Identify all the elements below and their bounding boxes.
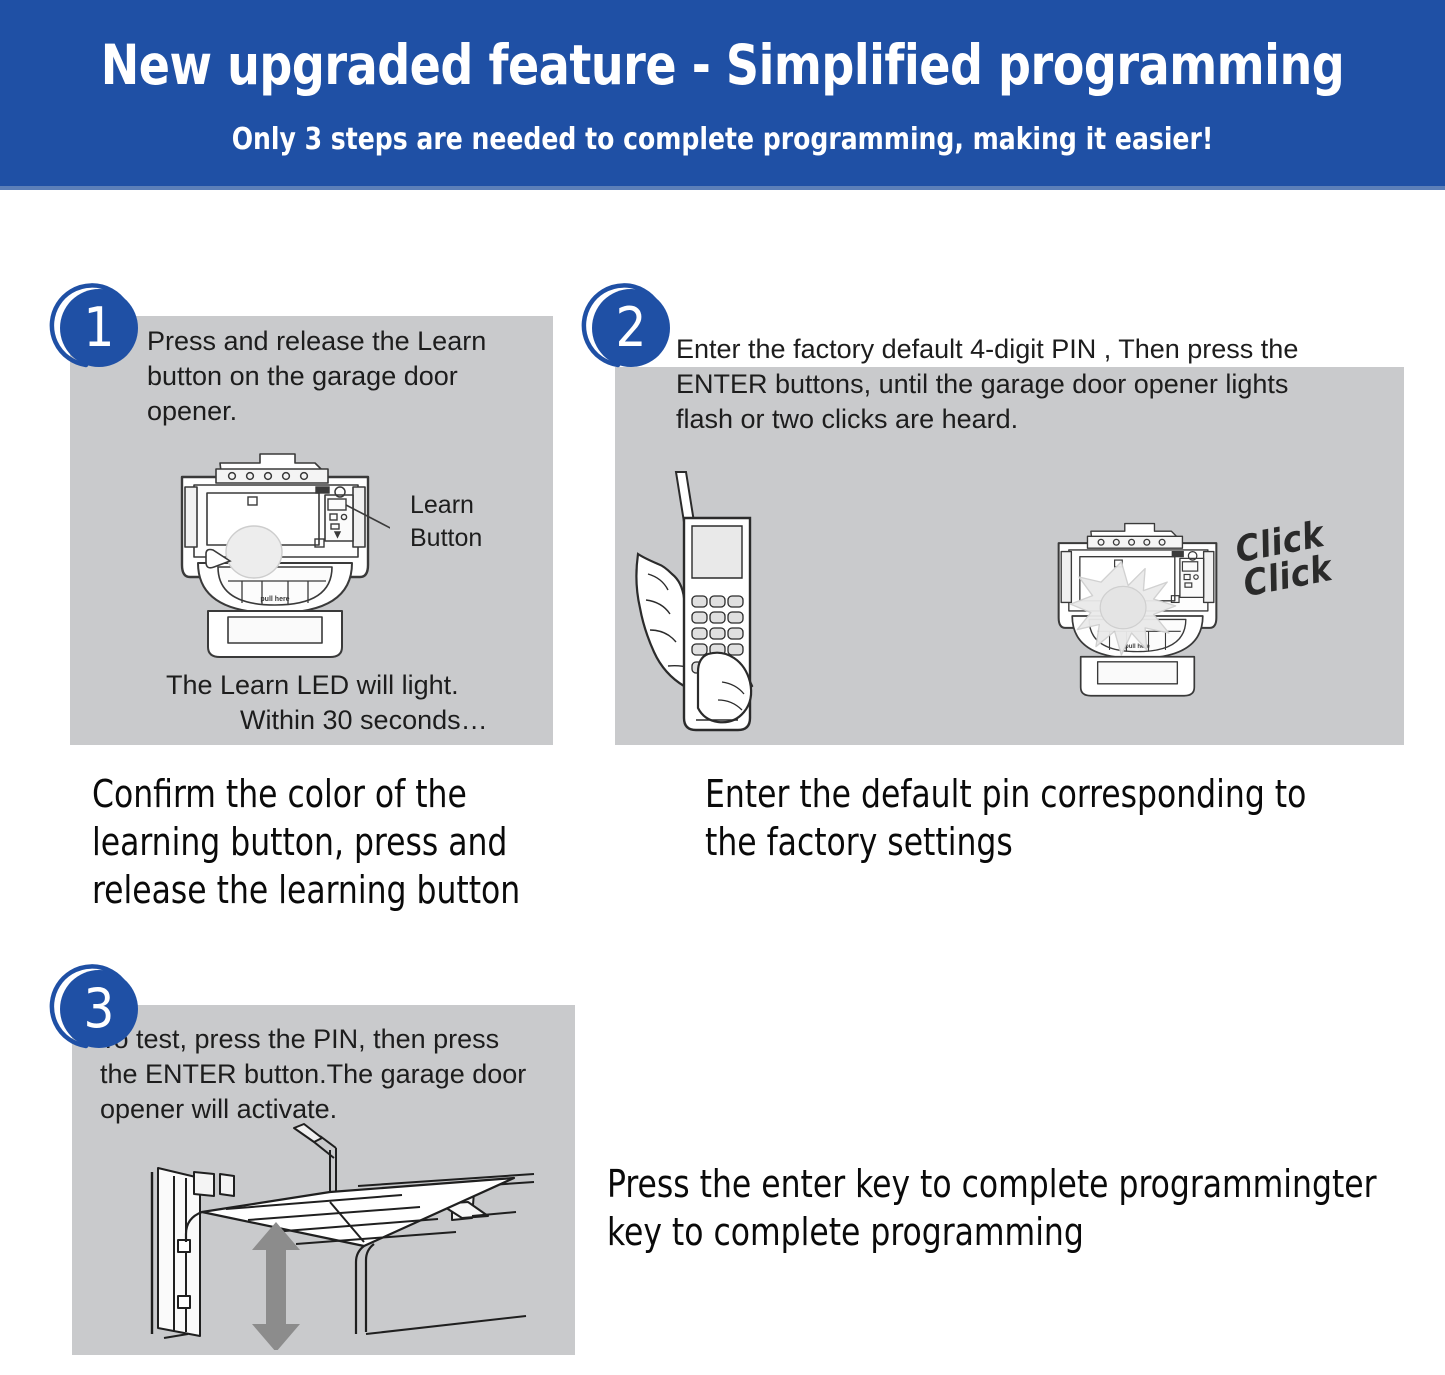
step-2-caption: Enter the default pin corresponding to t…	[705, 770, 1404, 866]
step-3-instruction: To test, press the PIN, then press the E…	[100, 1022, 570, 1127]
header-banner: New upgraded feature - Simplified progra…	[0, 0, 1445, 190]
step-2-badge: 2	[578, 281, 674, 377]
step-3-number: 3	[60, 970, 138, 1048]
step-3-badge: 3	[46, 962, 142, 1058]
step-1-footnote-line-1: The Learn LED will light.	[166, 668, 459, 703]
step-2-illustration-opener-flashing: pull here	[1040, 505, 1235, 705]
step-2-illustration-hand-keypad	[630, 470, 890, 742]
svg-text:pull here: pull here	[260, 596, 289, 603]
step-2-number: 2	[592, 289, 670, 367]
step-1-illustration-garage-door-opener: pull here	[160, 435, 390, 665]
step-3-illustration-garage-door	[122, 1120, 542, 1350]
up-down-arrow-icon	[252, 1222, 300, 1350]
step-1-caption: Confirm the color of the learning button…	[92, 770, 607, 914]
step-2-instruction: Enter the factory default 4-digit PIN , …	[676, 332, 1406, 437]
step-1-number: 1	[60, 289, 138, 367]
page-subtitle: Only 3 steps are needed to complete prog…	[51, 122, 1395, 158]
step-3-caption: Press the enter key to complete programm…	[607, 1160, 1380, 1256]
step-1-badge: 1	[46, 281, 142, 377]
step-1-instruction: Press and release the Learn button on th…	[147, 324, 547, 429]
step-1-learn-button-callout: Learn Button	[410, 489, 482, 555]
page-title: New upgraded feature - Simplified progra…	[51, 33, 1395, 97]
step-1-footnote-line-2: Within 30 seconds…	[240, 703, 488, 738]
